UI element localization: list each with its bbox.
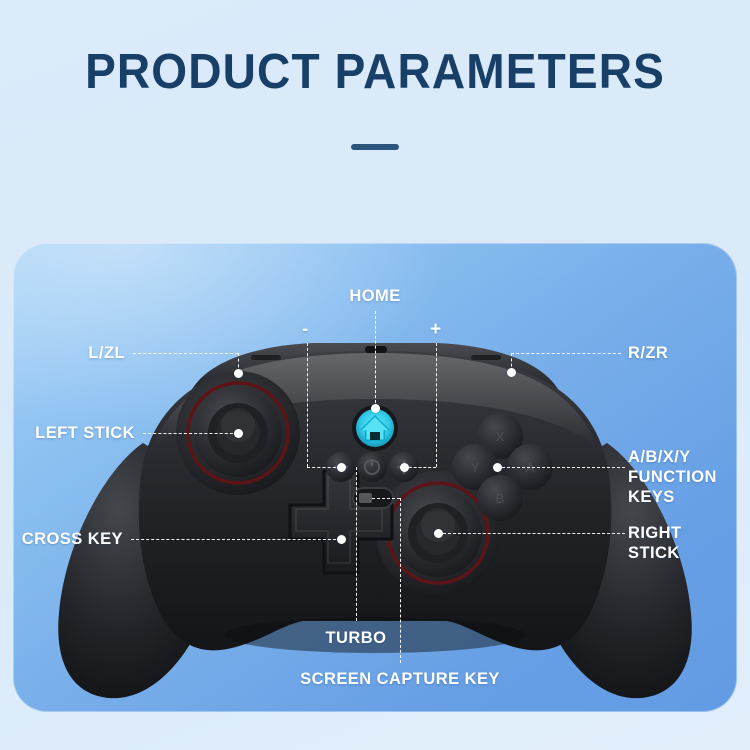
callout-plus-symbol: + [430,320,441,339]
callout-abxy-function-keys: A/B/X/Y FUNCTION KEYS [628,447,717,507]
callout-r-zr: R/ZR [628,343,668,363]
callout-turbo: TURBO [296,628,416,648]
leader-dot-plus [400,463,409,472]
leader-cross-key [131,539,341,540]
leader-turbo-vertical [356,467,357,621]
leader-dot-minus [337,463,346,472]
leader-dot-cross-key [337,535,346,544]
leader-minus-vertical [307,343,308,467]
callout-l-zl: L/ZL [13,343,125,363]
svg-text:B: B [496,491,505,506]
callout-cross-key: CROSS KEY [13,529,123,549]
leader-dot-home [371,404,380,413]
product-diagram-card: X Y A B [13,243,737,712]
callout-minus-symbol: - [302,320,308,339]
leader-dot-r-zr [507,368,516,377]
leader-dot-left-stick [234,429,243,438]
callout-screen-capture-key: SCREEN CAPTURE KEY [280,669,520,689]
product-parameters-page: PRODUCT PARAMETERS [0,0,750,750]
leader-l-zl-horizontal [133,353,238,354]
svg-text:Y: Y [471,460,480,475]
callout-left-stick: LEFT STICK [13,423,135,443]
leader-abxy [497,467,625,468]
leader-plus-vertical [436,343,437,467]
leader-minus-horizontal [307,467,341,468]
leader-r-zr-horizontal [511,353,621,354]
leader-dot-abxy [493,463,502,472]
page-title: PRODUCT PARAMETERS [23,48,728,97]
callout-right-stick: RIGHT STICK [628,523,682,563]
leader-capture-horizontal [372,498,400,499]
leader-dot-l-zl [234,369,243,378]
callout-home: HOME [325,286,425,306]
svg-text:X: X [496,429,505,444]
leader-dot-right-stick [434,529,443,538]
leader-left-stick [143,433,238,434]
leader-right-stick [438,533,625,534]
title-divider [351,144,399,150]
leader-home [375,311,376,408]
